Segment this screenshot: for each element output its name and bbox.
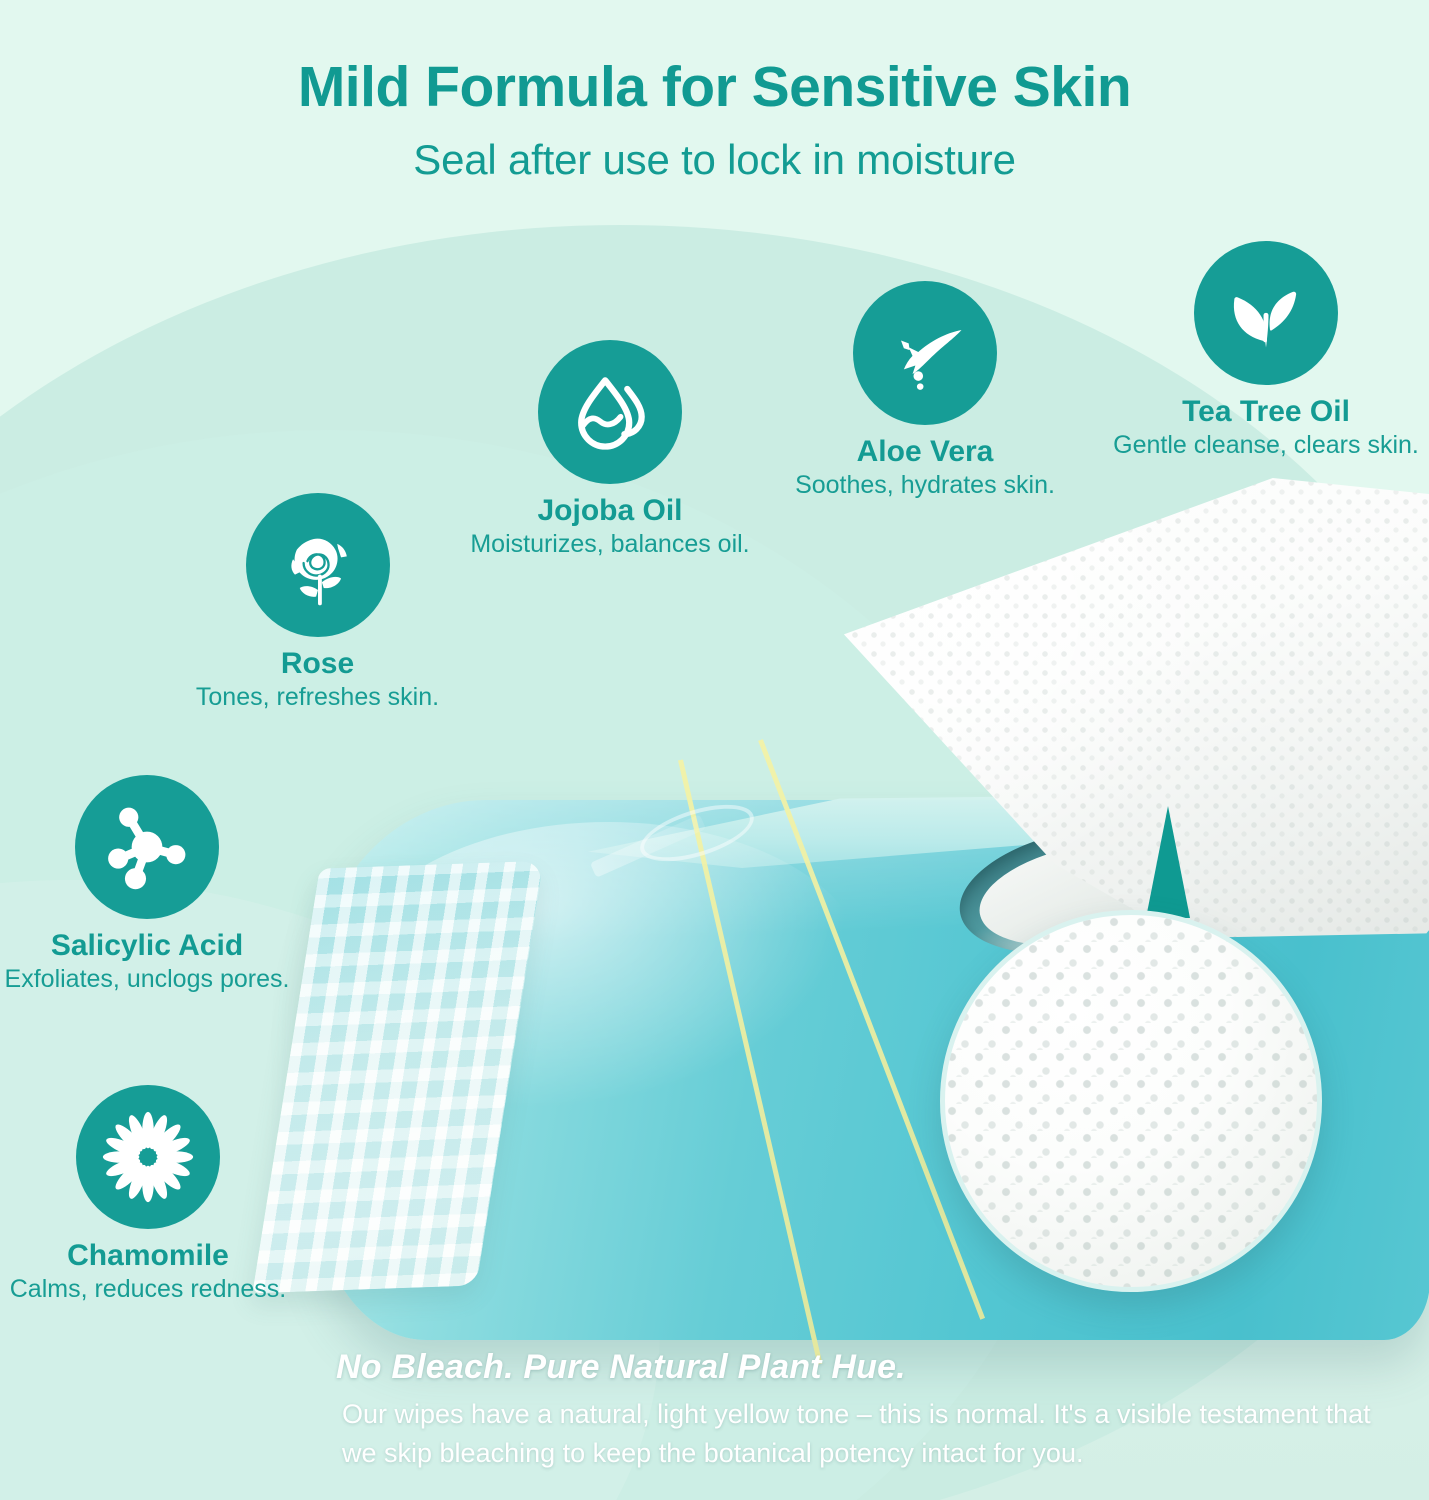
ingredient-name: Chamomile <box>0 1240 313 1272</box>
two-leaves-icon <box>1194 241 1338 385</box>
footer-body: Our wipes have a natural, light yellow t… <box>342 1395 1396 1474</box>
ingredient-benefit: Calms, reduces redness. <box>0 1275 313 1304</box>
wipe-sheet-texture <box>812 478 1429 938</box>
ingredient-badge-chamomile[interactable]: Chamomile Calms, reduces redness. <box>0 1085 313 1303</box>
page-title: Mild Formula for Sensitive Skin <box>0 56 1429 120</box>
ingredient-benefit: Soothes, hydrates skin. <box>760 471 1090 500</box>
ingredient-benefit: Gentle cleanse, clears skin. <box>1106 431 1426 460</box>
aloe-leaf-drop-icon <box>853 281 997 425</box>
ingredient-badge-tea-tree-oil[interactable]: Tea Tree Oil Gentle cleanse, clears skin… <box>1106 241 1426 459</box>
ingredient-benefit: Exfoliates, unclogs pores. <box>0 965 312 994</box>
ingredient-badge-rose[interactable]: Rose Tones, refreshes skin. <box>155 493 480 711</box>
rose-flower-icon <box>246 493 390 637</box>
ingredient-name: Jojoba Oil <box>450 495 770 527</box>
ingredient-name: Aloe Vera <box>760 436 1090 468</box>
wipe-sheet <box>812 478 1429 938</box>
molecule-icon <box>75 775 219 919</box>
footer-headline: No Bleach. Pure Natural Plant Hue. <box>336 1348 1396 1386</box>
page-subtitle: Seal after use to lock in moisture <box>0 136 1429 184</box>
daisy-flower-icon <box>76 1085 220 1229</box>
ingredient-badge-jojoba-oil[interactable]: Jojoba Oil Moisturizes, balances oil. <box>450 340 770 558</box>
ingredient-name: Salicylic Acid <box>0 930 312 962</box>
up-arrow-pointer-icon <box>1146 806 1190 918</box>
ingredient-benefit: Moisturizes, balances oil. <box>450 530 770 559</box>
ingredient-name: Tea Tree Oil <box>1106 396 1426 428</box>
infographic-canvas: Mild Formula for Sensitive Skin Seal aft… <box>0 0 1429 1500</box>
closeup-texture-pattern <box>945 915 1317 1287</box>
ingredient-badge-salicylic-acid[interactable]: Salicylic Acid Exfoliates, unclogs pores… <box>0 775 312 993</box>
ingredient-name: Rose <box>155 648 480 680</box>
ingredient-badge-aloe-vera[interactable]: Aloe Vera Soothes, hydrates skin. <box>760 281 1090 499</box>
wipe-texture-closeup <box>940 910 1322 1292</box>
water-droplets-icon <box>538 340 682 484</box>
ingredient-benefit: Tones, refreshes skin. <box>155 683 480 712</box>
header-block: Mild Formula for Sensitive Skin Seal aft… <box>0 56 1429 184</box>
footer-copy-block: No Bleach. Pure Natural Plant Hue. Our w… <box>336 1348 1396 1474</box>
